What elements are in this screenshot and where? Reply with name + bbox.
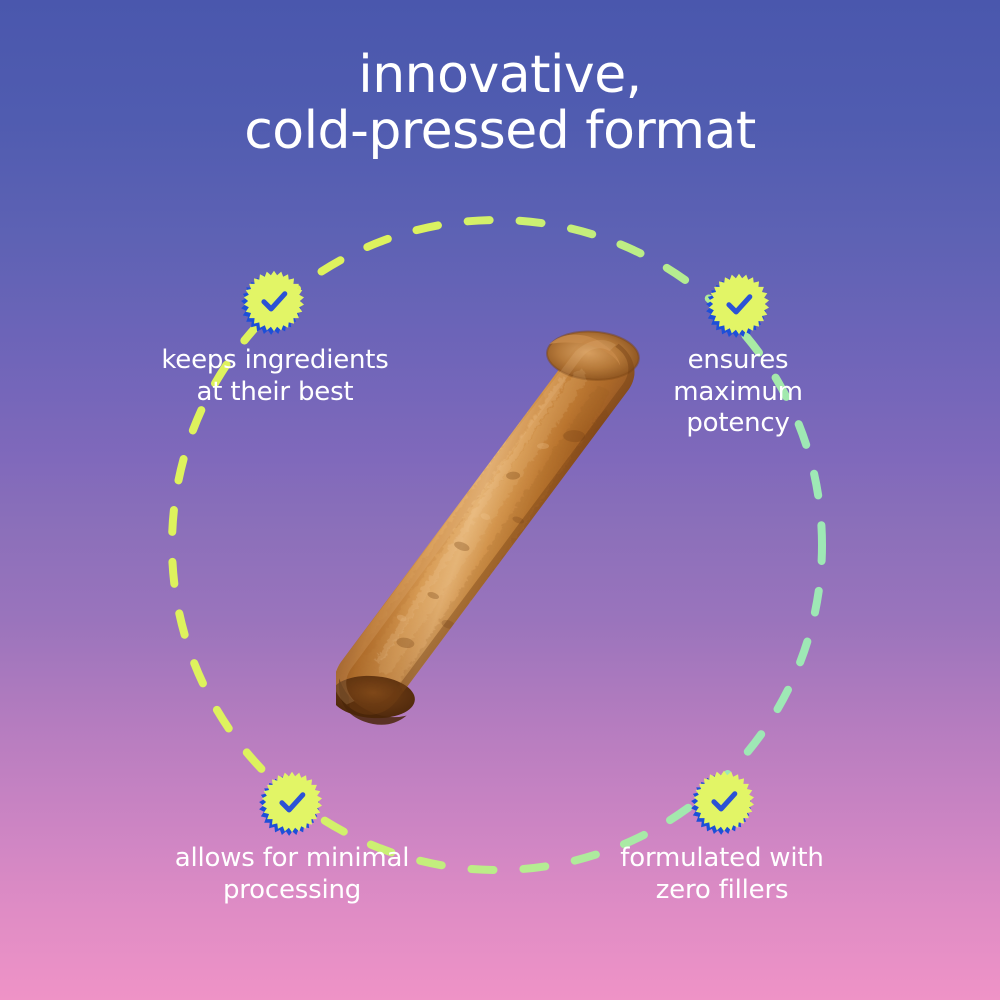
feature-label-keeps-ingredients: keeps ingredients at their best — [65, 345, 485, 408]
feature-label-ensures-potency: ensures maximum potency — [588, 345, 888, 440]
check-badge-ensures-potency — [703, 268, 775, 340]
page-title: innovative, cold-pressed format — [0, 48, 1000, 159]
promo-graphic: innovative, cold-pressed format keeps in… — [0, 0, 1000, 1000]
feature-label-zero-fillers: formulated with zero fillers — [542, 843, 902, 906]
check-badge-minimal-processing — [256, 766, 328, 838]
check-badge-keeps-ingredients — [238, 265, 310, 337]
check-badge-zero-fillers — [688, 765, 760, 837]
title-line-2: cold-pressed format — [0, 104, 1000, 160]
title-line-1: innovative, — [0, 48, 1000, 104]
feature-label-minimal-processing: allows for minimal processing — [82, 843, 502, 906]
